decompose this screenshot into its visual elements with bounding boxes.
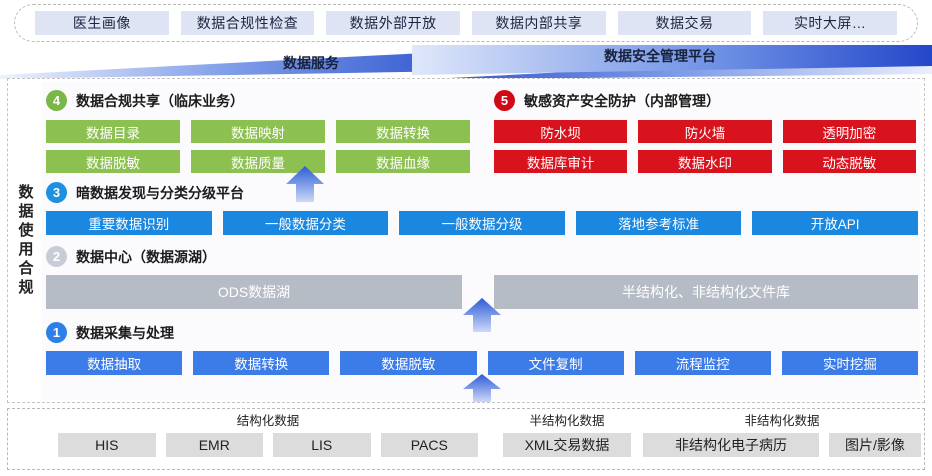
content-column: 4 数据合规共享（临床业务） 数据目录 数据映射 数据转换 数据脱敏 数据质量 … [42,82,920,400]
section-5-pills: 防水坝 防火墙 透明加密 数据库审计 数据水印 动态脱敏 [494,120,916,173]
ribbon-shapes [0,44,932,80]
section-4-row-2: 数据脱敏 数据质量 数据血缘 [46,150,470,173]
section-2-header: 2 数据中心（数据源湖） [46,246,918,267]
lake-semi-unstructured-files[interactable]: 半结构化、非结构化文件库 [494,275,918,309]
pill-data-transform[interactable]: 数据转换 [336,120,470,143]
section-5-row-1: 防水坝 防火墙 透明加密 [494,120,916,143]
source-unstructured-emr[interactable]: 非结构化电子病历 [643,433,819,457]
source-images[interactable]: 图片/影像 [829,433,921,457]
pill-general-data-grading[interactable]: 一般数据分级 [399,211,565,235]
pill-waterproof-dam[interactable]: 防水坝 [494,120,627,143]
source-group-structured-items: HIS EMR LIS PACS [58,433,478,457]
section-3-pills: 重要数据识别 一般数据分类 一般数据分级 落地参考标准 开放API [46,211,918,235]
app-chip-realtime-dashboard[interactable]: 实时大屏… [763,11,897,35]
section-2-title: 数据中心（数据源湖） [76,247,216,267]
source-xml-transaction-data[interactable]: XML交易数据 [503,433,631,457]
pill-db-audit[interactable]: 数据库审计 [494,150,627,173]
pill-file-replication[interactable]: 文件复制 [488,351,624,375]
source-group-unstructured-items: 非结构化电子病历 图片/影像 [643,433,921,457]
section-1-header: 1 数据采集与处理 [46,322,918,343]
source-group-unstructured-caption: 非结构化数据 [643,413,921,430]
source-emr[interactable]: EMR [166,433,264,457]
data-sources-strip: 结构化数据 HIS EMR LIS PACS 半结构化数据 XML交易数据 非结… [7,408,925,470]
section-3-header: 3 暗数据发现与分类分级平台 [46,182,918,203]
source-group-structured: 结构化数据 HIS EMR LIS PACS [58,413,478,457]
pill-process-monitoring[interactable]: 流程监控 [635,351,771,375]
app-chip-internal-share[interactable]: 数据内部共享 [472,11,606,35]
section-1-pills: 数据抽取 数据转换 数据脱敏 文件复制 流程监控 实时挖掘 [46,351,918,375]
pill-firewall[interactable]: 防火墙 [638,120,771,143]
pill-general-data-classification[interactable]: 一般数据分类 [223,211,389,235]
app-chip-compliance-check[interactable]: 数据合规性检查 [181,11,315,35]
section-5-row-2: 数据库审计 数据水印 动态脱敏 [494,150,916,173]
source-group-semi-structured: 半结构化数据 XML交易数据 [503,413,631,457]
flow-arrow-up-sources-to-1 [462,374,502,402]
ribbon-label-security-platform: 数据安全管理平台 [604,46,716,66]
source-lis[interactable]: LIS [273,433,371,457]
section-5-header: 5 敏感资产安全防护（内部管理） [494,90,916,111]
pill-data-desensitization[interactable]: 数据脱敏 [340,351,476,375]
section-4-badge: 4 [46,90,67,111]
section-2-badge: 2 [46,246,67,267]
app-chip-data-trading[interactable]: 数据交易 [618,11,752,35]
pill-data-lineage[interactable]: 数据血缘 [336,150,470,173]
section-4-title: 数据合规共享（临床业务） [76,91,244,111]
pill-open-api[interactable]: 开放API [752,211,918,235]
section-4-pills: 数据目录 数据映射 数据转换 数据脱敏 数据质量 数据血缘 [46,120,470,173]
diagram-root: 医生画像 数据合规性检查 数据外部开放 数据内部共享 数据交易 实时大屏… [0,0,932,476]
section-5-sensitive-asset-protection: 5 敏感资产安全防护（内部管理） 防水坝 防火墙 透明加密 数据库审计 数据水印… [494,90,916,173]
side-rail: 数据使用合规 [8,85,42,397]
pill-data-conversion[interactable]: 数据转换 [193,351,329,375]
section-3-dark-data-platform: 3 暗数据发现与分类分级平台 重要数据识别 一般数据分类 一般数据分级 落地参考… [46,182,918,235]
section-5-badge: 5 [494,90,515,111]
lake-ods[interactable]: ODS数据湖 [46,275,462,309]
pill-realtime-mining[interactable]: 实时挖掘 [782,351,918,375]
pill-data-extraction[interactable]: 数据抽取 [46,351,182,375]
app-chip-external-open[interactable]: 数据外部开放 [326,11,460,35]
pill-important-data-identification[interactable]: 重要数据识别 [46,211,212,235]
section-1-title: 数据采集与处理 [76,323,174,343]
source-group-semi-structured-items: XML交易数据 [503,433,631,457]
pill-data-watermark[interactable]: 数据水印 [638,150,771,173]
pill-implementation-reference-standard[interactable]: 落地参考标准 [576,211,742,235]
section-3-title: 暗数据发现与分类分级平台 [76,183,244,203]
app-chip-doctor-profile[interactable]: 医生画像 [35,11,169,35]
source-group-unstructured: 非结构化数据 非结构化电子病历 图片/影像 [643,413,921,457]
pill-dynamic-masking[interactable]: 动态脱敏 [783,150,916,173]
source-pacs[interactable]: PACS [381,433,479,457]
section-1-badge: 1 [46,322,67,343]
section-1-data-collection: 1 数据采集与处理 数据抽取 数据转换 数据脱敏 文件复制 流程监控 实时挖掘 [46,322,918,375]
pill-data-mapping[interactable]: 数据映射 [191,120,325,143]
source-group-semi-structured-caption: 半结构化数据 [503,413,631,430]
pill-data-masking[interactable]: 数据脱敏 [46,150,180,173]
section-5-title: 敏感资产安全防护（内部管理） [524,91,720,111]
pill-transparent-encryption[interactable]: 透明加密 [783,120,916,143]
source-group-structured-caption: 结构化数据 [58,413,478,430]
section-4-row-1: 数据目录 数据映射 数据转换 [46,120,470,143]
ribbon-label-data-service: 数据服务 [283,53,339,73]
ribbon-band [0,44,932,80]
pill-data-catalog[interactable]: 数据目录 [46,120,180,143]
section-4-data-compliance-sharing: 4 数据合规共享（临床业务） 数据目录 数据映射 数据转换 数据脱敏 数据质量 … [46,90,470,173]
application-strip: 医生画像 数据合规性检查 数据外部开放 数据内部共享 数据交易 实时大屏… [14,4,918,42]
side-rail-label: 数据使用合规 [18,184,33,298]
section-3-badge: 3 [46,182,67,203]
section-4-header: 4 数据合规共享（临床业务） [46,90,470,111]
source-his[interactable]: HIS [58,433,156,457]
